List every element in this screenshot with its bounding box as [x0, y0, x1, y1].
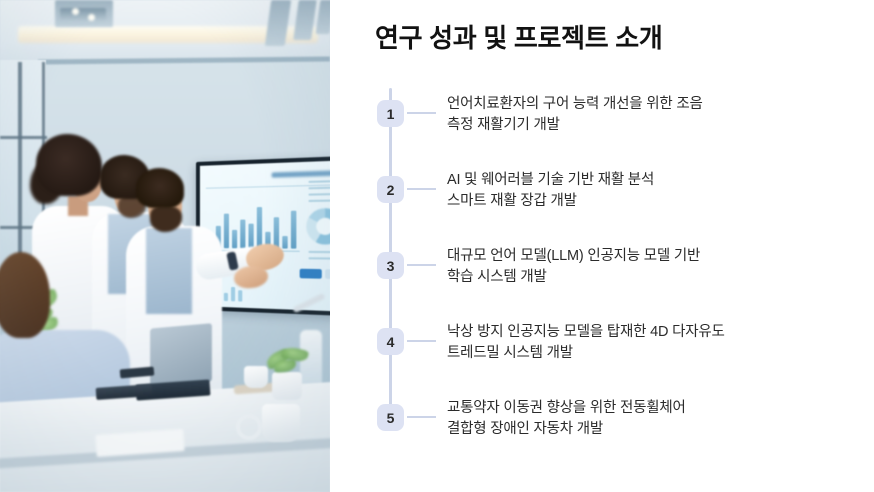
- list-item[interactable]: 5 교통약자 이동권 향상을 위한 전동휠체어 결합형 장애인 자동차 개발: [375, 392, 845, 452]
- page-title: 연구 성과 및 프로젝트 소개: [375, 18, 663, 55]
- list-item-label: 낙상 방지 인공지능 모델을 탑재한 4D 다자유도 트레드밀 시스템 개발: [447, 322, 725, 364]
- screen-bar: [224, 214, 229, 249]
- window-mullion: [0, 136, 47, 139]
- coffee-mug: [262, 404, 300, 442]
- screen-mini-bar: [238, 290, 242, 301]
- list-item[interactable]: 4 낙상 방지 인공지능 모델을 탑재한 4D 다자유도 트레드밀 시스템 개발: [375, 316, 845, 392]
- timeline-connector: [407, 340, 436, 342]
- screen-legend-row: [308, 199, 330, 202]
- screen-legend-row: [308, 193, 330, 196]
- timeline-connector: [407, 264, 436, 266]
- timeline-connector: [407, 416, 436, 418]
- list-item[interactable]: 2 AI 및 웨어러블 기술 기반 재활 분석 스마트 재활 장갑 개발: [375, 164, 845, 240]
- screen-bar: [232, 230, 237, 248]
- photo-scene: [0, 0, 330, 492]
- presentation-slide: 연구 성과 및 프로젝트 소개 1 언어치료환자의 구어 능력 개선을 위한 조…: [0, 0, 874, 492]
- list-item[interactable]: 3 대규모 언어 모델(LLM) 인공지능 모델 기반 학습 시스템 개발: [375, 240, 845, 316]
- laptop-screen: [150, 323, 212, 387]
- screen-bar: [282, 236, 287, 249]
- step-number-badge: 4: [377, 328, 404, 355]
- step-number-badge: 1: [377, 100, 404, 127]
- content-panel: 연구 성과 및 프로젝트 소개 1 언어치료환자의 구어 능력 개선을 위한 조…: [330, 0, 874, 492]
- step-number-badge: 3: [377, 252, 404, 279]
- screen-mini-bar: [231, 287, 235, 301]
- hair: [36, 134, 102, 196]
- project-timeline: 1 언어치료환자의 구어 능력 개선을 위한 조음 측정 재활기기 개발 2 A…: [375, 88, 845, 452]
- step-number-badge: 5: [377, 404, 404, 431]
- screen-legend-row: [308, 257, 330, 260]
- ceiling-light: [88, 14, 95, 21]
- shirt: [146, 228, 192, 314]
- list-item-label: 교통약자 이동권 향상을 위한 전동휠체어 결합형 장애인 자동차 개발: [447, 398, 686, 440]
- screen-bar: [240, 220, 245, 249]
- screen-legend-row: [308, 186, 330, 189]
- screen-legend-row: [308, 251, 330, 253]
- screen-bar: [248, 224, 253, 249]
- timeline-connector: [407, 112, 436, 114]
- list-item-label: 대규모 언어 모델(LLM) 인공지능 모델 기반 학습 시스템 개발: [447, 246, 700, 288]
- screen-bar: [291, 211, 296, 249]
- step-number-badge: 2: [377, 176, 404, 203]
- timeline-connector: [407, 188, 436, 190]
- research-team-photo: [0, 0, 330, 492]
- plant-pot: [272, 372, 302, 400]
- list-item-label: AI 및 웨어러블 기술 기반 재활 분석 스마트 재활 장갑 개발: [447, 170, 654, 212]
- screen-bar: [257, 207, 262, 248]
- list-item[interactable]: 1 언어치료환자의 구어 능력 개선을 위한 조음 측정 재활기기 개발: [375, 88, 845, 164]
- mug-handle: [236, 414, 262, 440]
- coffee-mug: [244, 366, 268, 388]
- ceiling-light: [72, 8, 79, 15]
- screen-mini-bar: [224, 293, 228, 301]
- ceiling-vent: [60, 8, 106, 21]
- list-item-label: 언어치료환자의 구어 능력 개선을 위한 조음 측정 재활기기 개발: [447, 94, 703, 136]
- screen-primary-button: [300, 269, 322, 279]
- hair: [136, 168, 184, 208]
